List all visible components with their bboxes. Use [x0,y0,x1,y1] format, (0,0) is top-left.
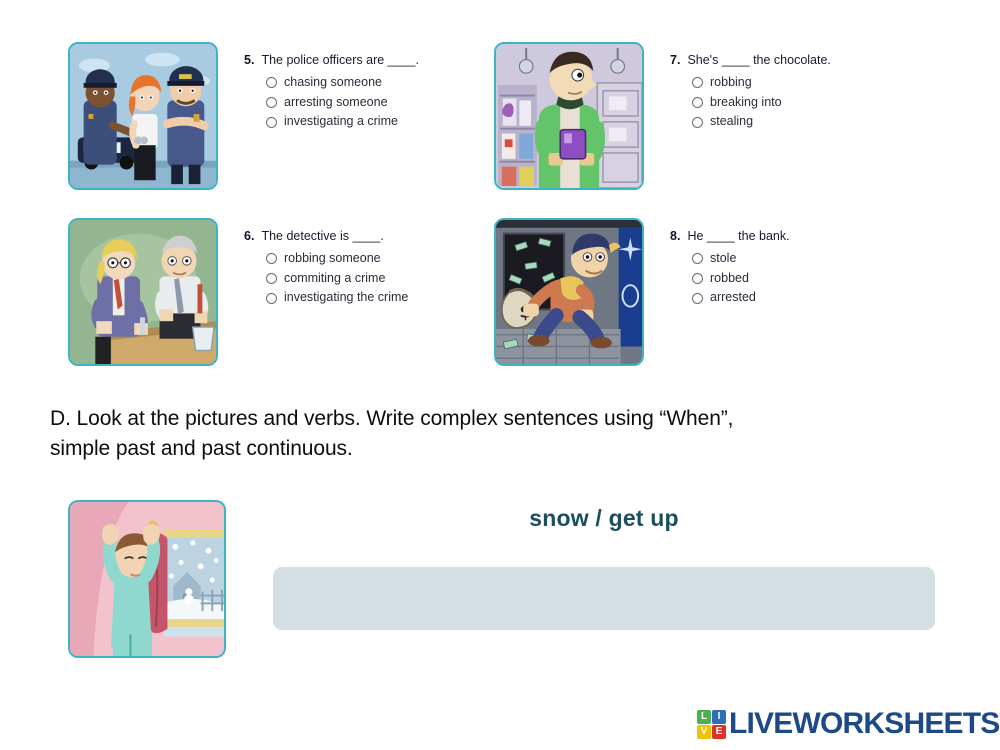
radio-icon[interactable] [266,273,277,284]
radio-icon[interactable] [266,97,277,108]
option-label: robbing [710,76,752,90]
question-8-number: 8. [670,229,680,243]
liveworksheets-logo: L I V E LIVEWORKSHEETS [697,709,1000,739]
radio-icon[interactable] [692,117,703,128]
question-block-8: $ [494,218,790,366]
question-5-text: 5.The police officers are ____. chasing … [244,42,419,135]
question-7-option-1[interactable]: robbing [692,76,831,90]
option-label: arrested [710,291,756,305]
question-7-text: 7.She's ____ the chocolate. robbing brea… [670,42,831,135]
option-label: stealing [710,115,753,129]
instruction-line-1: D. Look at the pictures and verbs. Write… [50,404,948,434]
question-8-options: stole robbed arrested [692,252,790,305]
answer-input[interactable] [273,567,935,630]
option-label: investigating the crime [284,291,408,305]
question-7-prompt: 7.She's ____ the chocolate. [670,54,831,68]
question-8-prompt: 8.He ____ the bank. [670,230,790,244]
option-label: robbed [710,272,749,286]
question-6-option-3[interactable]: investigating the crime [266,291,408,305]
question-8-option-3[interactable]: arrested [692,291,790,305]
question-block-6: 6.The detective is ____. robbing someone… [68,218,408,366]
instruction-line-2: simple past and past continuous. [50,434,948,464]
radio-icon[interactable] [266,117,277,128]
logo-tile-i: I [712,710,726,724]
question-6-prompt: 6.The detective is ____. [244,230,408,244]
option-label: chasing someone [284,76,382,90]
logo-wordmark: LIVEWORKSHEETS [729,709,1000,739]
option-label: robbing someone [284,252,381,266]
question-5-prompt: 5.The police officers are ____. [244,54,419,68]
question-6-option-2[interactable]: commiting a crime [266,272,408,286]
question-7-prompt-text: She's ____ the chocolate. [687,53,830,67]
bank-robbery-illustration: $ [496,220,642,364]
question-block-5: 5.The police officers are ____. chasing … [68,42,419,190]
option-label: stole [710,252,736,266]
question-5-options: chasing someone arresting someone invest… [266,76,419,129]
question-5-prompt-text: The police officers are ____. [261,53,419,67]
detective-investigation-illustration [70,220,216,364]
question-7-options: robbing breaking into stealing [692,76,831,129]
radio-icon[interactable] [692,97,703,108]
question-6-number: 6. [244,229,254,243]
logo-tiles: L I V E [697,710,726,739]
question-6-prompt-text: The detective is ____. [261,229,383,243]
radio-icon[interactable] [266,253,277,264]
question-7-option-2[interactable]: breaking into [692,96,831,110]
radio-icon[interactable] [692,77,703,88]
radio-icon[interactable] [692,293,703,304]
question-8-text: 8.He ____ the bank. stole robbed arreste… [670,218,790,311]
question-5-image [68,42,218,190]
instruction-paragraph-d: D. Look at the pictures and verbs. Write… [50,404,948,464]
radio-icon[interactable] [692,253,703,264]
question-8-option-1[interactable]: stole [692,252,790,266]
question-7-number: 7. [670,53,680,67]
radio-icon[interactable] [266,293,277,304]
question-6-option-1[interactable]: robbing someone [266,252,408,266]
question-6-text: 6.The detective is ____. robbing someone… [244,218,408,311]
question-8-prompt-text: He ____ the bank. [687,229,789,243]
question-7-option-3[interactable]: stealing [692,115,831,129]
option-label: commiting a crime [284,272,385,286]
question-5-option-3[interactable]: investigating a crime [266,115,419,129]
police-arrest-illustration [70,44,216,188]
question-5-number: 5. [244,53,254,67]
question-5-option-2[interactable]: arresting someone [266,96,419,110]
verb-prompt: snow / get up [273,505,935,532]
radio-icon[interactable] [266,77,277,88]
wake-up-snow-illustration [70,502,224,656]
logo-tile-e: E [712,725,726,739]
logo-tile-v: V [697,725,711,739]
question-7-image [494,42,644,190]
option-label: investigating a crime [284,115,398,129]
worksheet-page: 5.The police officers are ____. chasing … [0,0,1000,750]
question-6-options: robbing someone commiting a crime invest… [266,252,408,305]
logo-tile-l: L [697,710,711,724]
question-8-option-2[interactable]: robbed [692,272,790,286]
question-5-option-1[interactable]: chasing someone [266,76,419,90]
shoplifting-illustration [496,44,642,188]
question-8-image: $ [494,218,644,366]
question-block-7: 7.She's ____ the chocolate. robbing brea… [494,42,831,190]
option-label: breaking into [710,96,782,110]
option-label: arresting someone [284,96,388,110]
radio-icon[interactable] [692,273,703,284]
writing-exercise-image [68,500,226,658]
question-6-image [68,218,218,366]
